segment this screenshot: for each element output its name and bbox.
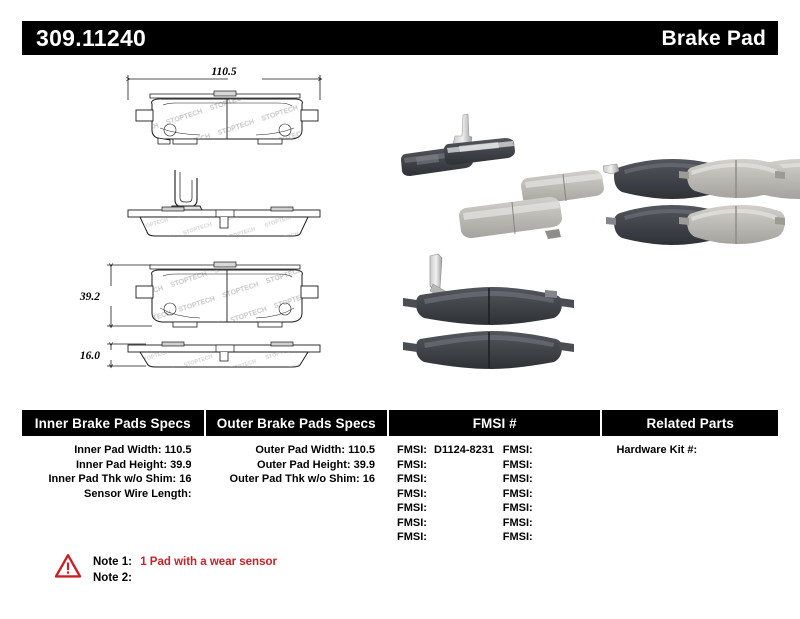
fmsi-value [427,459,431,471]
fmsi-column: FMSI: D1124-8231 FMSI: FMSI: FMSI: FMSI: [389,443,600,545]
header-bar: 309.11240 Brake Pad [22,21,778,55]
fmsi-value: D1124-8231 [430,444,494,456]
fmsi-label: FMSI: [503,531,533,543]
specifications-table: Inner Brake Pads Specs Outer Brake Pads … [22,410,778,545]
fmsi-subcolumn-right: FMSI: FMSI: FMSI: FMSI: FMSI: [495,443,601,545]
fmsi-label: FMSI: [397,473,427,485]
fmsi-row: FMSI: [397,472,495,487]
fmsi-value [427,517,431,529]
fmsi-value [427,531,431,543]
fmsi-row: FMSI: [397,516,495,531]
related-parts-column: Hardware Kit #: [602,443,778,545]
fmsi-row: FMSI: [397,501,495,516]
fmsi-row: FMSI: [503,487,601,502]
part-number: 309.11240 [36,27,146,50]
fmsi-value [533,459,537,471]
page-title: Brake Pad [661,28,766,49]
spec-row: Outer Pad Thk w/o Shim: 16 [206,472,388,487]
table-header-row: Inner Brake Pads Specs Outer Brake Pads … [22,410,778,436]
fmsi-label: FMSI: [503,502,533,514]
fmsi-label: FMSI: [503,488,533,500]
column-header-outer-specs: Outer Brake Pads Specs [206,410,388,436]
note-row-2: Note 2: [93,570,277,586]
fmsi-subcolumn-left: FMSI: D1124-8231 FMSI: FMSI: FMSI: FMSI: [389,443,495,545]
column-header-fmsi: FMSI # [389,410,600,436]
spec-label: Inner Pad Height: [76,459,167,471]
fmsi-row: FMSI: [397,487,495,502]
warning-triangle-icon [55,553,81,579]
fmsi-row: FMSI: [397,458,495,473]
fmsi-row: FMSI: D1124-8231 [397,443,495,458]
photo-pair-pads-with-sensor [403,254,574,369]
note-row-1: Note 1: 1 Pad with a wear sensor [93,554,277,570]
fmsi-value [533,517,537,529]
spec-value: 16 [179,473,191,485]
fmsi-label: FMSI: [503,444,533,456]
fmsi-label: FMSI: [397,444,427,456]
fmsi-label: FMSI: [397,517,427,529]
spec-row: Inner Pad Height: 39.9 [22,458,204,473]
fmsi-value [533,444,537,456]
photo-topdown-pad-set [603,159,800,245]
fmsi-label: FMSI: [503,473,533,485]
table-body: Inner Pad Width: 110.5 Inner Pad Height:… [22,436,778,545]
outer-specs-column: Outer Pad Width: 110.5 Outer Pad Height:… [206,443,388,545]
related-part-row: Hardware Kit #: [602,443,778,458]
fmsi-label: FMSI: [397,459,427,471]
spec-row: Outer Pad Width: 110.5 [206,443,388,458]
column-header-related-parts: Related Parts [602,410,778,436]
fmsi-row: FMSI: [503,530,601,545]
spec-label: Outer Pad Height: [257,459,351,471]
spec-label: Sensor Wire Length: [84,488,191,500]
spec-label: Outer Pad Thk w/o Shim: [230,473,360,485]
note-2-label: Note 2: [93,570,137,586]
spec-row: Inner Pad Thk w/o Shim: 16 [22,472,204,487]
fmsi-value [533,502,537,514]
spec-value: 16 [363,473,375,485]
note-1-value: 1 Pad with a wear sensor [140,556,277,568]
fmsi-label: FMSI: [503,517,533,529]
fmsi-row: FMSI: [503,501,601,516]
fmsi-label: FMSI: [503,459,533,471]
fmsi-row: FMSI: [503,458,601,473]
fmsi-row: FMSI: [503,516,601,531]
related-part-label: Hardware Kit #: [616,444,697,456]
spec-label: Inner Pad Thk w/o Shim: [48,473,176,485]
fmsi-row: FMSI: [503,443,601,458]
fmsi-label: FMSI: [397,488,427,500]
spec-value: 39.9 [170,459,191,471]
column-header-inner-specs: Inner Brake Pads Specs [22,410,204,436]
spec-label: Inner Pad Width: [74,444,161,456]
spec-value: 110.5 [348,444,375,456]
fmsi-value [427,488,431,500]
fmsi-label: FMSI: [397,502,427,514]
spec-row: Inner Pad Width: 110.5 [22,443,204,458]
fmsi-value [533,473,537,485]
notes-text-block: Note 1: 1 Pad with a wear sensor Note 2: [93,553,277,586]
fmsi-value [427,473,431,485]
spec-value: 39.9 [354,459,375,471]
fmsi-row: FMSI: [503,472,601,487]
fmsi-row: FMSI: [397,530,495,545]
product-photos [0,58,800,388]
fmsi-label: FMSI: [397,531,427,543]
spec-value: 110.5 [165,444,192,456]
photo-angled-pad-set [401,114,604,239]
fmsi-value [533,488,537,500]
fmsi-value [427,502,431,514]
spec-row: Sensor Wire Length: [22,487,204,502]
inner-specs-column: Inner Pad Width: 110.5 Inner Pad Height:… [22,443,204,545]
spec-row: Outer Pad Height: 39.9 [206,458,388,473]
fmsi-value [533,531,537,543]
note-1-label: Note 1: [93,554,137,570]
spec-label: Outer Pad Width: [255,444,345,456]
notes-section: Note 1: 1 Pad with a wear sensor Note 2: [55,553,277,586]
